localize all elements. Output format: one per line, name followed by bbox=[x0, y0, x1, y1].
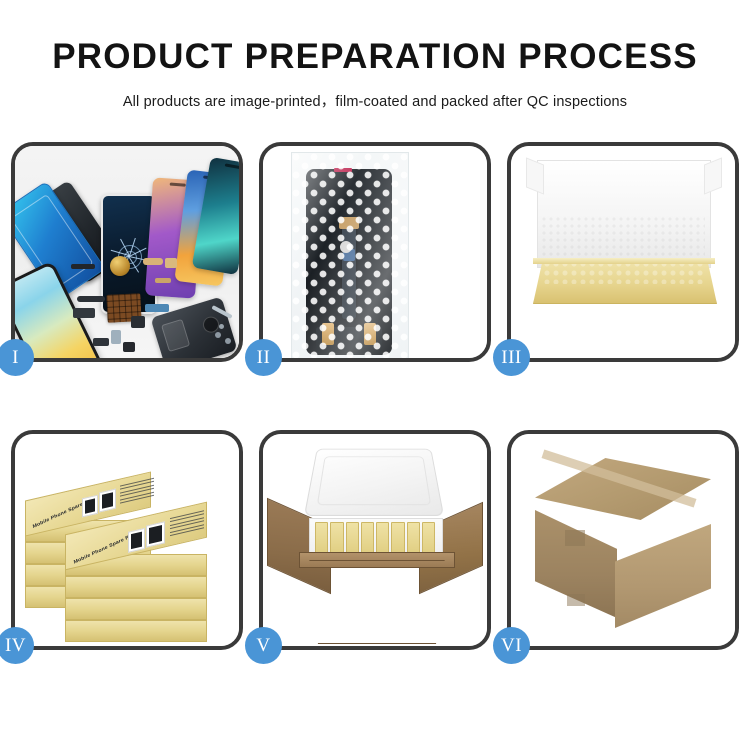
step-4-image: Mobile Phone Spare Parts Mobile Phone Sp… bbox=[15, 434, 239, 646]
step-badge-1: I bbox=[0, 339, 34, 376]
step-1-image bbox=[15, 146, 239, 358]
header: PRODUCT PREPARATION PROCESS All products… bbox=[0, 0, 750, 111]
step-badge-6: VI bbox=[493, 627, 530, 664]
process-step-6: VI bbox=[507, 430, 739, 650]
process-step-4: Mobile Phone Spare Parts Mobile Phone Sp… bbox=[11, 430, 243, 650]
carton-body-icon bbox=[305, 560, 449, 644]
tape-tab-icon bbox=[565, 530, 585, 546]
step-badge-3: III bbox=[493, 339, 530, 376]
box-stack-icon: Mobile Phone Spare Parts Mobile Phone Sp… bbox=[25, 456, 235, 632]
page-subtitle: All products are image-printed，film-coat… bbox=[0, 74, 750, 111]
sealed-carton-top bbox=[535, 458, 711, 520]
process-step-1: I bbox=[11, 142, 243, 362]
step-badge-5: V bbox=[245, 627, 282, 664]
process-step-grid: I II bbox=[11, 142, 739, 682]
bubble-bag-icon bbox=[291, 152, 409, 358]
step-badge-4: IV bbox=[0, 627, 34, 664]
process-step-5: V bbox=[259, 430, 491, 650]
box-rim bbox=[533, 258, 715, 264]
process-step-2: II bbox=[259, 142, 491, 362]
speaker-coil-icon bbox=[110, 256, 130, 276]
foam-cooler-lid-icon bbox=[304, 449, 444, 516]
sealed-carton-right-face bbox=[615, 524, 711, 628]
step-3-image bbox=[511, 146, 735, 358]
product-preparation-infographic: PRODUCT PREPARATION PROCESS All products… bbox=[0, 0, 750, 750]
page-title: PRODUCT PREPARATION PROCESS bbox=[0, 0, 750, 74]
process-step-3: III bbox=[507, 142, 739, 362]
step-2-image bbox=[263, 146, 487, 358]
tape-tab-icon bbox=[567, 594, 585, 606]
step-badge-2: II bbox=[245, 339, 282, 376]
step-6-image bbox=[511, 434, 735, 646]
step-5-image bbox=[263, 434, 487, 646]
plastic-sheen bbox=[292, 153, 408, 358]
